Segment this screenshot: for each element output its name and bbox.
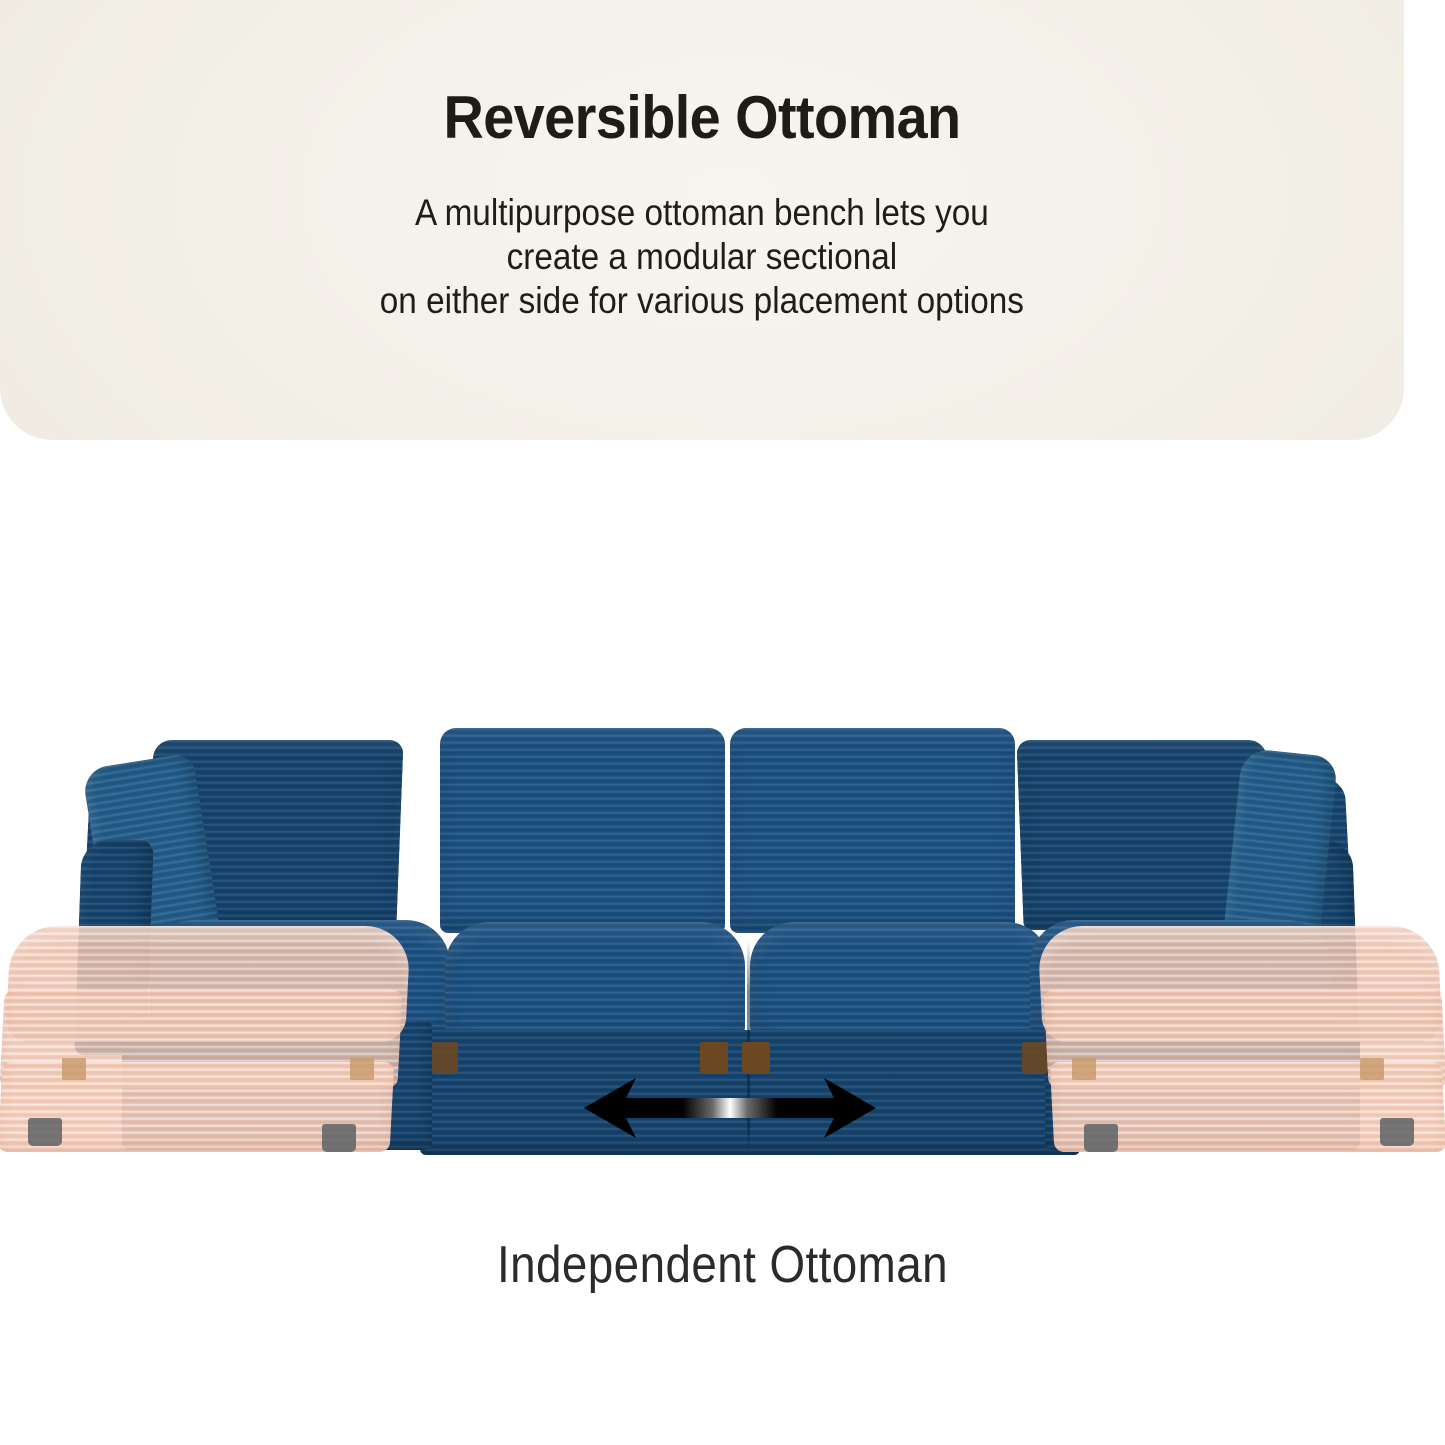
back-cushion-center-left [440,728,725,933]
double-arrow-icon [580,1068,880,1148]
ottoman-right-foot-a [1084,1124,1118,1152]
ottoman-right-corner-block-a [1072,1058,1096,1080]
ottoman-left-foot-a [28,1118,62,1146]
header-content: Reversible Ottoman A multipurpose ottoma… [0,0,1404,440]
ottoman-right-corner-block-b [1360,1058,1384,1080]
ottoman-left-corner-block-a [62,1058,86,1080]
header-subtitle: A multipurpose ottoman bench lets you cr… [380,191,1024,323]
product-feature-page: Reversible Ottoman A multipurpose ottoma… [0,0,1445,1445]
reversible-direction-arrow [580,1068,880,1148]
header-card: Reversible Ottoman A multipurpose ottoma… [0,0,1404,440]
illustration-caption: Independent Ottoman [87,1235,1359,1295]
ottoman-left-corner-block-b [350,1058,374,1080]
page-title: Reversible Ottoman [443,86,960,149]
subtitle-line-2: create a modular sectional [380,235,1024,279]
ottoman-left-foot-b [322,1124,356,1152]
sofa-leg-right [1022,1042,1048,1074]
sofa-leg-left [432,1042,458,1074]
subtitle-line-3: on either side for various placement opt… [380,279,1024,323]
subtitle-line-1: A multipurpose ottoman bench lets you [380,191,1024,235]
back-cushion-center-right [730,728,1015,933]
ottoman-right-foot-b [1380,1118,1414,1146]
